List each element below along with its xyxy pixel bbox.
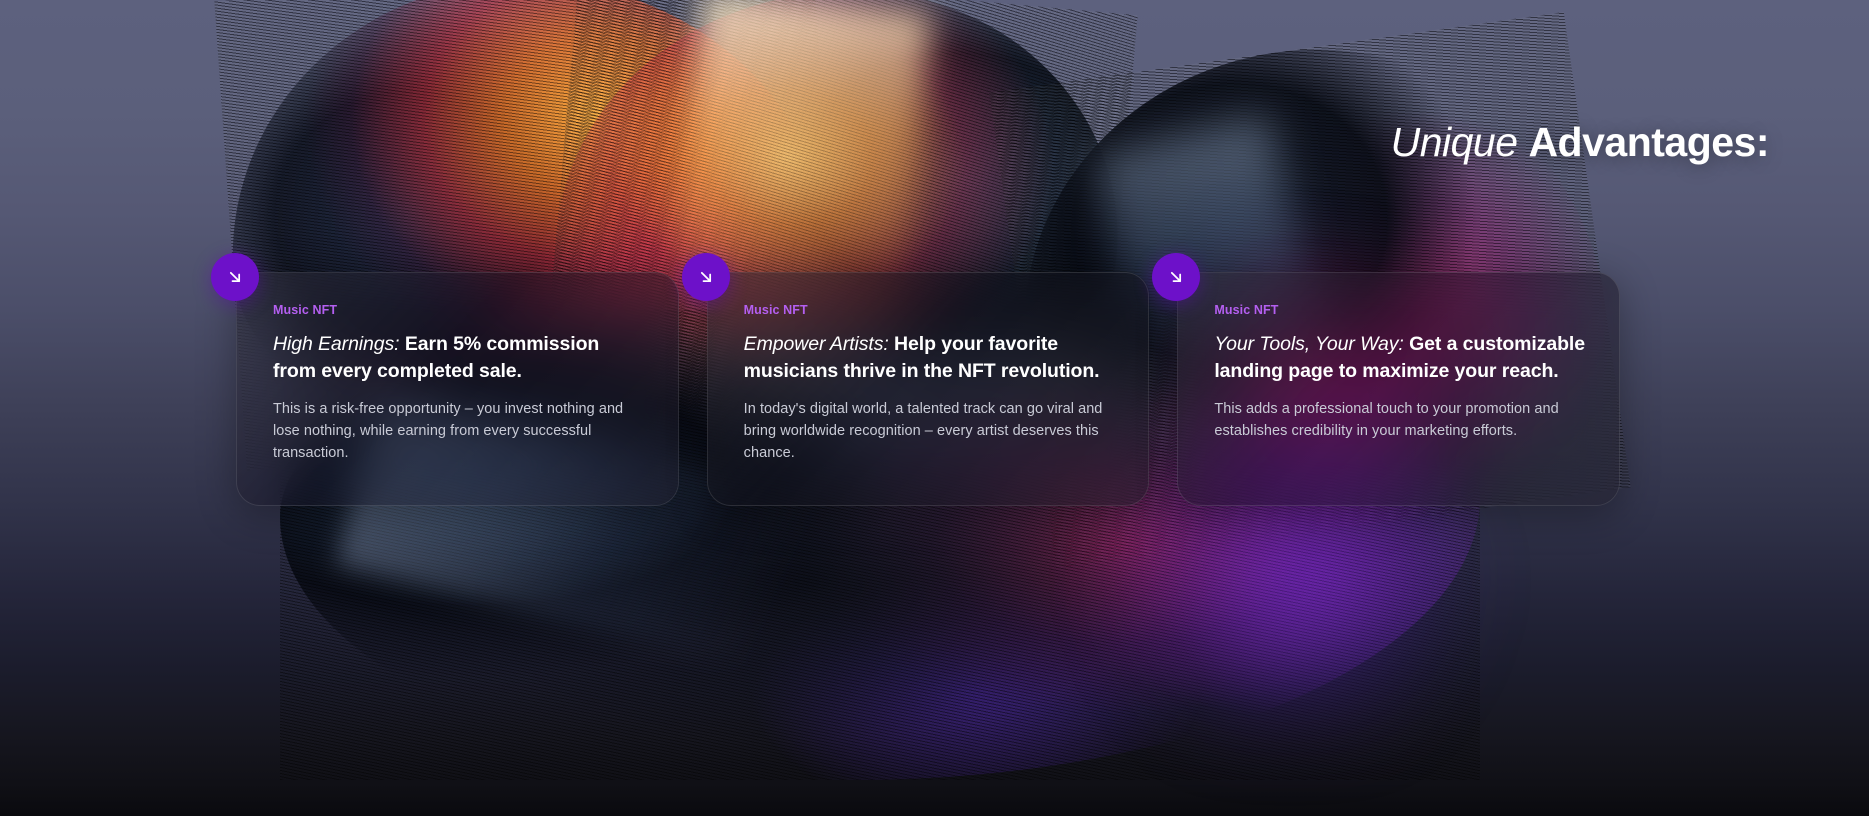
card-kicker: Music NFT [1214,303,1587,317]
card-title: High Earnings: Earn 5% commission from e… [273,331,646,384]
card-title-emphasis: Empower Artists: [744,333,889,355]
arrow-down-right-icon[interactable] [211,253,259,301]
card-body: In today's digital world, a talented tra… [744,398,1117,464]
card-title: Empower Artists: Help your favorite musi… [744,331,1117,384]
advantage-card-2[interactable]: Music NFT Empower Artists: Help your fav… [707,272,1150,506]
advantage-cards-row: Music NFT High Earnings: Earn 5% commiss… [236,272,1620,506]
card-title: Your Tools, Your Way: Get a customizable… [1214,331,1587,384]
card-body: This is a risk-free opportunity – you in… [273,398,646,464]
card-title-emphasis: High Earnings: [273,333,400,355]
arrow-down-right-icon[interactable] [682,253,730,301]
card-kicker: Music NFT [273,303,646,317]
hero-section: Unique Advantages: Music NFT High Earnin… [0,0,1869,816]
section-heading: Unique Advantages: [1391,120,1769,165]
card-body: This adds a professional touch to your p… [1214,398,1587,442]
advantage-card-3[interactable]: Music NFT Your Tools, Your Way: Get a cu… [1177,272,1620,506]
card-kicker: Music NFT [744,303,1117,317]
advantage-card-1[interactable]: Music NFT High Earnings: Earn 5% commiss… [236,272,679,506]
card-title-emphasis: Your Tools, Your Way: [1214,333,1403,355]
arrow-down-right-icon[interactable] [1152,253,1200,301]
heading-strong: Advantages: [1528,119,1769,165]
heading-lead: Unique [1391,119,1529,165]
